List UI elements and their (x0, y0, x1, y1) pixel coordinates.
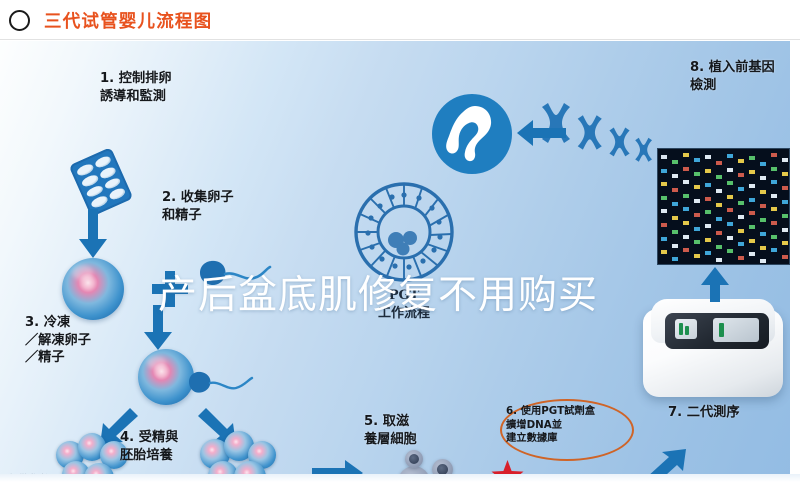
step-8-label: 8. 植入前基因 檢測 (690, 59, 775, 94)
oocyte-icon (62, 258, 124, 320)
ivf-pgt-workflow-poster: 1. 控制排卵 誘導和監測 2. 收集卵子 和精子 3. 冷凍 ／解凍卵子 ／精… (0, 41, 800, 482)
step-7-label: 7. 二代測序 (668, 404, 740, 422)
arrow-up-to-step8 (700, 267, 730, 303)
circle-outline-icon (9, 10, 30, 31)
blastocyst-ring-icon (352, 180, 456, 284)
page-title: 三代试管婴儿流程图 (44, 8, 212, 33)
step-3-label: 3. 冷凍 ／解凍卵子 ／精子 (25, 314, 91, 367)
trophectoderm-cell-tiny-icon (405, 450, 423, 468)
bottom-margin (0, 474, 800, 482)
overlay-ad-text: 产后盆底肌修复不用购买 (158, 273, 638, 319)
pill-blister-pack-icon (69, 147, 134, 217)
step-1-label: 1. 控制排卵 誘導和監測 (100, 70, 172, 105)
step-2-label: 2. 收集卵子 和精子 (162, 189, 234, 224)
dna-gel-image-icon (657, 148, 790, 265)
step-6-label: 6. 使用PGT試劑盒 擴增DNA並 建立數據庫 (506, 405, 632, 446)
step-4-label: 4. 受精與 胚胎培養 (120, 429, 178, 464)
sequencer-machine-icon (643, 299, 783, 397)
page-header: 三代试管婴儿流程图 (0, 0, 800, 40)
step-5-label: 5. 取滋 養層細胞 (364, 413, 417, 448)
fetus-in-circle-icon (432, 94, 512, 174)
header-divider (0, 39, 800, 40)
sperm-fertilising-icon (186, 369, 256, 406)
arrow-left-to-fetus (516, 119, 566, 147)
right-margin (790, 41, 800, 482)
arrow-down-step1-to-step3 (78, 209, 108, 259)
